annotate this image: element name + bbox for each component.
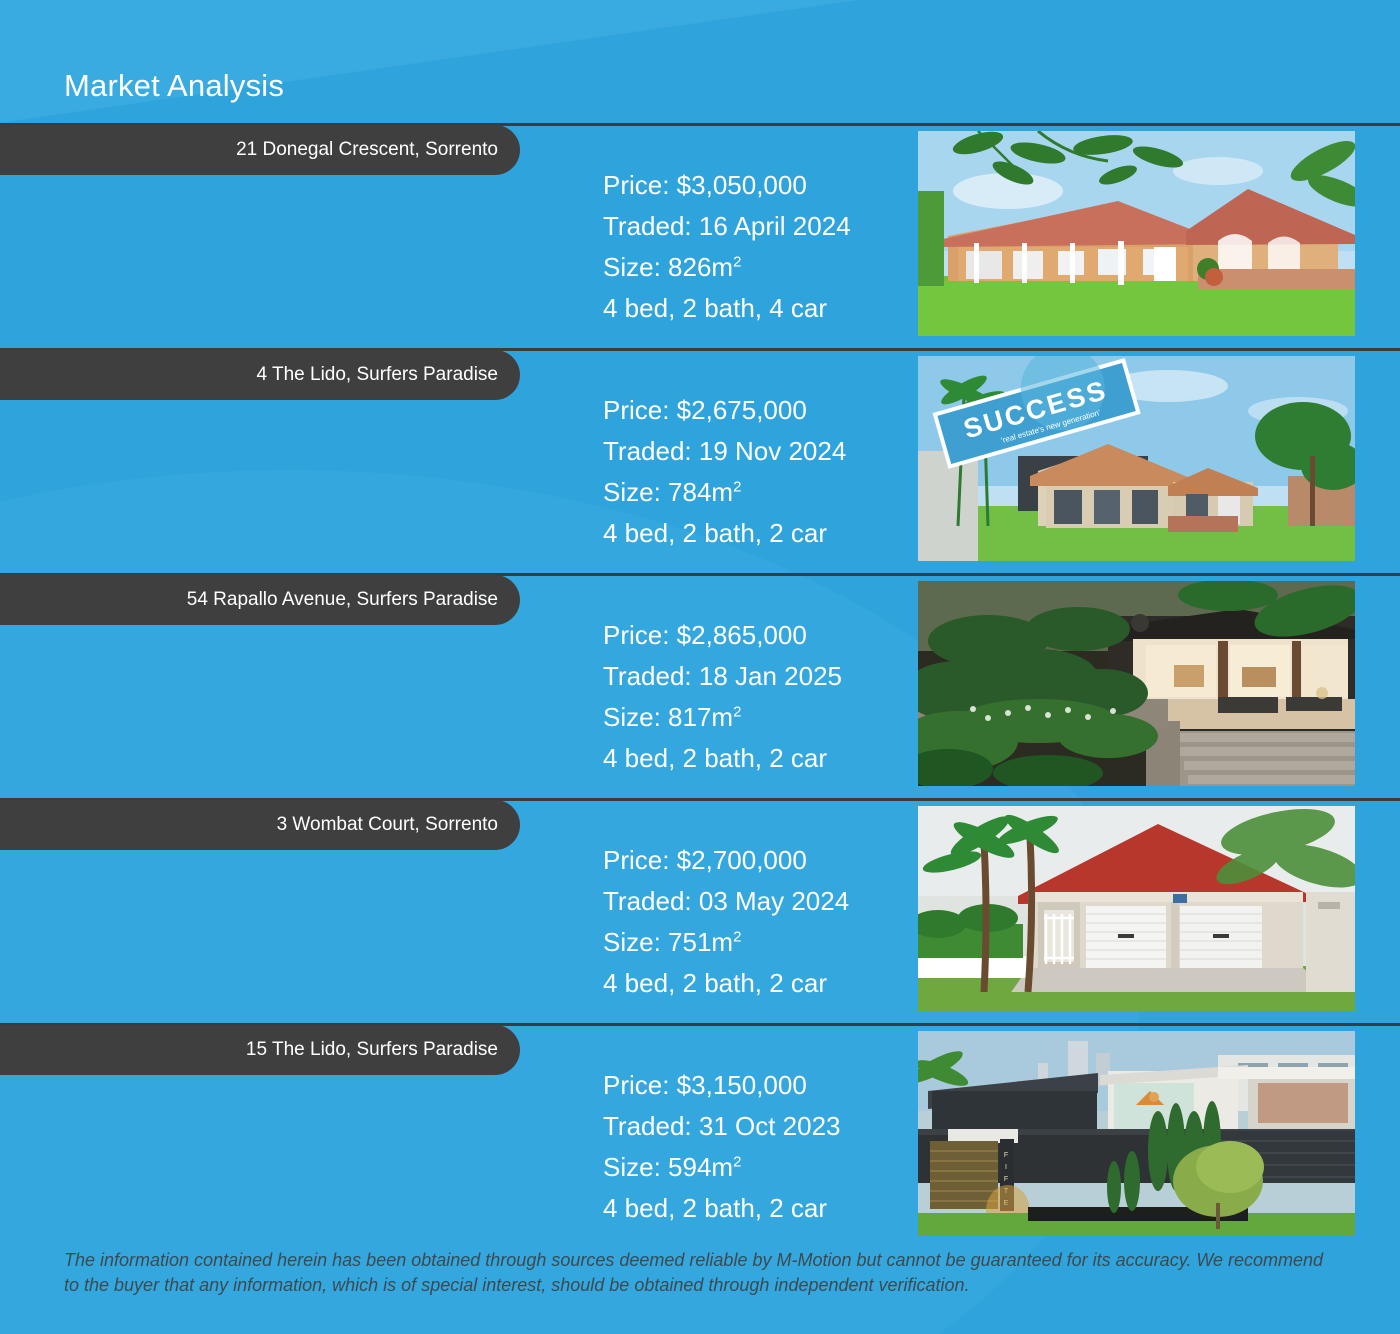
property-photo[interactable]: SUCCESS 'real estate's new generation' xyxy=(918,356,1355,561)
price-line: Price: $2,865,000 xyxy=(603,615,842,656)
size-line: Size: 594m2 xyxy=(603,1147,841,1188)
address-label: 15 The Lido, Surfers Paradise xyxy=(246,1039,498,1061)
property-details: Price: $2,675,000 Traded: 19 Nov 2024 Si… xyxy=(603,390,846,554)
address-badge[interactable]: 54 Rapallo Avenue, Surfers Paradise xyxy=(0,575,520,625)
property-details: Price: $3,050,000 Traded: 16 April 2024 … xyxy=(603,165,851,329)
address-label: 21 Donegal Crescent, Sorrento xyxy=(236,139,498,161)
svg-text:I: I xyxy=(1005,1164,1007,1171)
price-line: Price: $2,700,000 xyxy=(603,840,849,881)
size-line: Size: 817m2 xyxy=(603,697,842,738)
property-row: 21 Donegal Crescent, Sorrento Price: $3,… xyxy=(0,123,1400,348)
svg-text:F: F xyxy=(1004,1152,1008,1159)
config-line: 4 bed, 2 bath, 2 car xyxy=(603,513,846,554)
property-row: 3 Wombat Court, Sorrento Price: $2,700,0… xyxy=(0,798,1400,1023)
address-badge[interactable]: 4 The Lido, Surfers Paradise xyxy=(0,350,520,400)
disclaimer: The information contained herein has bee… xyxy=(0,1248,1400,1298)
traded-line: Traded: 18 Jan 2025 xyxy=(603,656,842,697)
traded-line: Traded: 16 April 2024 xyxy=(603,206,851,247)
property-row: 54 Rapallo Avenue, Surfers Paradise Pric… xyxy=(0,573,1400,798)
size-line: Size: 826m2 xyxy=(603,247,851,288)
config-line: 4 bed, 2 bath, 4 car xyxy=(603,288,851,329)
size-line: Size: 751m2 xyxy=(603,922,849,963)
property-row: 4 The Lido, Surfers Paradise Price: $2,6… xyxy=(0,348,1400,573)
property-row: 15 The Lido, Surfers Paradise Price: $3,… xyxy=(0,1023,1400,1248)
price-line: Price: $3,050,000 xyxy=(603,165,851,206)
property-photo[interactable] xyxy=(918,131,1355,336)
property-details: Price: $2,865,000 Traded: 18 Jan 2025 Si… xyxy=(603,615,842,779)
svg-text:F: F xyxy=(1004,1176,1008,1183)
price-line: Price: $2,675,000 xyxy=(603,390,846,431)
address-label: 4 The Lido, Surfers Paradise xyxy=(256,364,498,386)
page-title: Market Analysis xyxy=(64,70,284,101)
property-details: Price: $2,700,000 Traded: 03 May 2024 Si… xyxy=(603,840,849,1004)
property-details: Price: $3,150,000 Traded: 31 Oct 2023 Si… xyxy=(603,1065,841,1229)
config-line: 4 bed, 2 bath, 2 car xyxy=(603,1188,841,1229)
traded-line: Traded: 03 May 2024 xyxy=(603,881,849,922)
address-badge[interactable]: 15 The Lido, Surfers Paradise xyxy=(0,1025,520,1075)
property-photo[interactable] xyxy=(918,581,1355,786)
size-line: Size: 784m2 xyxy=(603,472,846,513)
address-label: 3 Wombat Court, Sorrento xyxy=(277,814,498,836)
page-header: Market Analysis xyxy=(0,0,1400,123)
address-badge[interactable]: 21 Donegal Crescent, Sorrento xyxy=(0,125,520,175)
market-analysis-page: Market Analysis 21 Donegal Crescent, Sor… xyxy=(0,0,1400,1334)
traded-line: Traded: 31 Oct 2023 xyxy=(603,1106,841,1147)
property-photo[interactable] xyxy=(918,806,1355,1011)
property-list: 21 Donegal Crescent, Sorrento Price: $3,… xyxy=(0,123,1400,1248)
property-photo[interactable]: F I F T E E xyxy=(918,1031,1355,1236)
address-badge[interactable]: 3 Wombat Court, Sorrento xyxy=(0,800,520,850)
price-line: Price: $3,150,000 xyxy=(603,1065,841,1106)
config-line: 4 bed, 2 bath, 2 car xyxy=(603,963,849,1004)
disclaimer-text: The information contained herein has bee… xyxy=(0,1248,1400,1298)
address-label: 54 Rapallo Avenue, Surfers Paradise xyxy=(187,589,498,611)
config-line: 4 bed, 2 bath, 2 car xyxy=(603,738,842,779)
traded-line: Traded: 19 Nov 2024 xyxy=(603,431,846,472)
